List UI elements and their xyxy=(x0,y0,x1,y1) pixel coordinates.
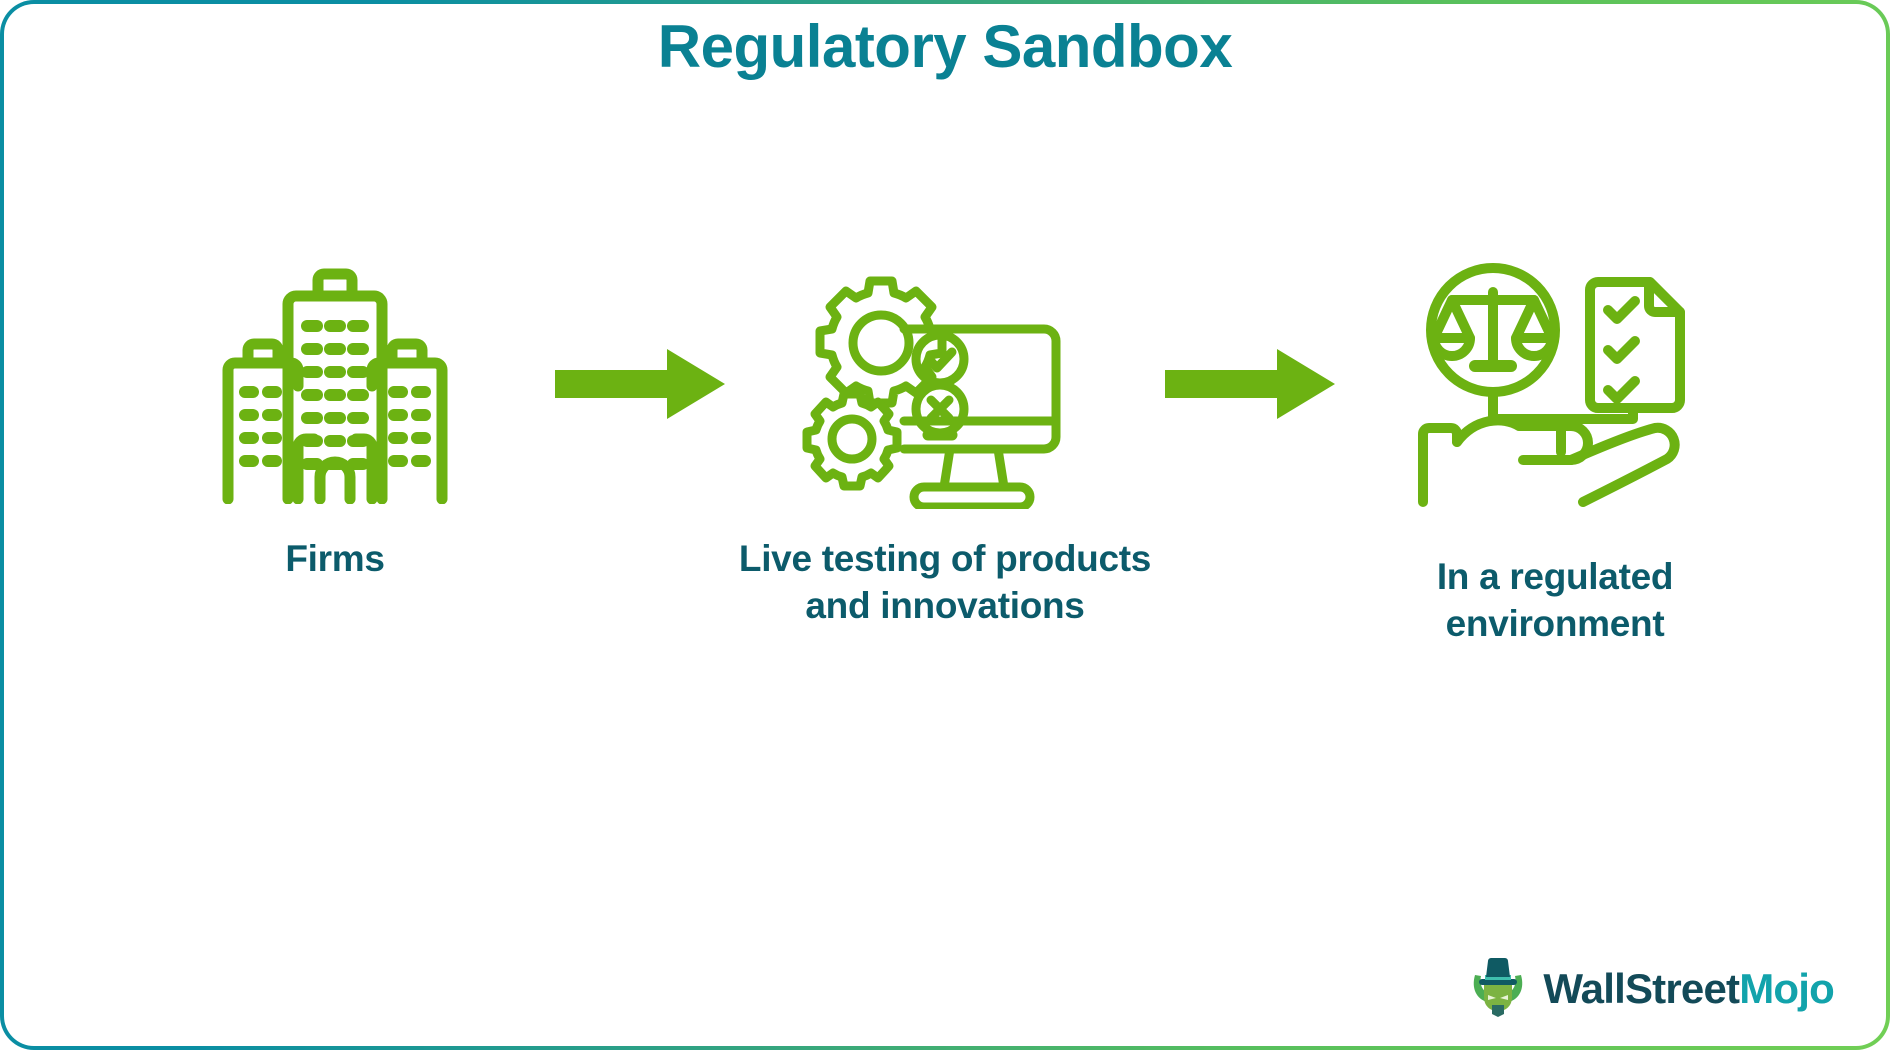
flow-step-live-testing: Live testing of products and innovations xyxy=(735,254,1155,629)
flow-step-label-regulated-environment: In a regulated environment xyxy=(1437,554,1673,647)
brand-name-part1: WallStreet xyxy=(1543,965,1739,1012)
flow-step-label-line1: In a regulated xyxy=(1437,554,1673,601)
flow-step-label-live-testing: Live testing of products and innovations xyxy=(739,536,1151,629)
flow-step-regulated-environment: In a regulated environment xyxy=(1345,254,1765,647)
flow-step-label-firms: Firms xyxy=(285,536,384,583)
flow-step-label-line2: and innovations xyxy=(739,583,1151,630)
brand-name-part2: Mojo xyxy=(1739,965,1834,1012)
brand-name: WallStreetMojo xyxy=(1543,965,1834,1013)
scales-document-hand-icon xyxy=(1415,254,1695,514)
flow-step-label-line2: environment xyxy=(1437,601,1673,648)
page-title: Regulatory Sandbox xyxy=(4,12,1886,81)
gears-monitor-testing-icon xyxy=(800,254,1090,514)
city-buildings-icon xyxy=(210,254,460,514)
process-flow: Firms xyxy=(4,254,1886,674)
flow-step-firms: Firms xyxy=(125,254,545,583)
arrow-right-icon-1 xyxy=(545,254,735,514)
brand-logo[interactable]: WallStreetMojo xyxy=(1467,955,1834,1022)
flow-step-label-line1: Live testing of products xyxy=(739,536,1151,583)
bull-with-tophat-logo-icon xyxy=(1467,955,1529,1022)
infographic-card: Regulatory Sandbox xyxy=(0,0,1890,1050)
arrow-right-icon-2 xyxy=(1155,254,1345,514)
